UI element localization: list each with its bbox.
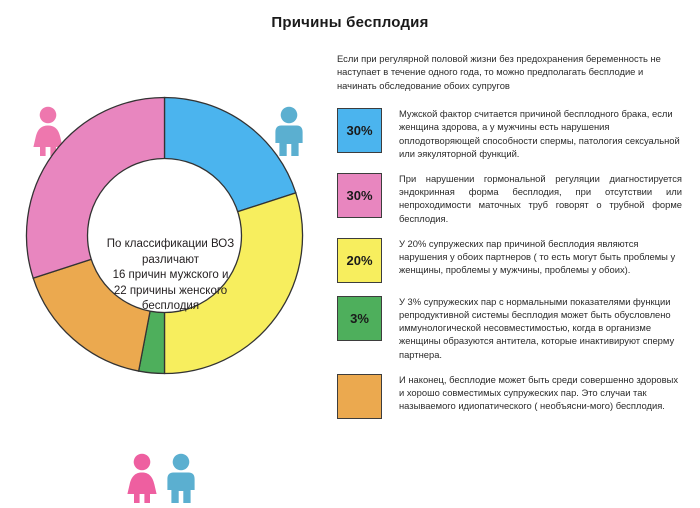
- donut-chart: [22, 93, 307, 378]
- legend-item-idiopathic: И наконец, бесплодие может быть среди со…: [337, 372, 685, 419]
- donut-center-line-4: 22 причины женского: [78, 284, 263, 300]
- donut-center-line-1: По классификации ВОЗ: [78, 237, 263, 253]
- legend-item-immunological: 3% У 3% супружеских пар с нормальными по…: [337, 294, 685, 361]
- legend-swatch-pink: 30%: [337, 173, 382, 218]
- donut-center-line-3: 16 причин мужского и: [78, 268, 263, 284]
- legend-swatch-yellow: 20%: [337, 238, 382, 283]
- legend-swatch-blue: 30%: [337, 108, 382, 153]
- couple-figure-icon: [124, 453, 204, 508]
- legend-text-idiopathic: И наконец, бесплодие может быть среди со…: [399, 372, 682, 413]
- donut-chart-panel: По классификации ВОЗ различают 16 причин…: [0, 45, 330, 485]
- legend-item-both-partners: 20% У 20% супружеских пар причиной беспл…: [337, 236, 685, 283]
- donut-center-line-5: бесплодия: [78, 299, 263, 315]
- legend-text-immunological: У 3% супружеских пар с нормальными показ…: [399, 294, 682, 361]
- legend-swatch-green: 3%: [337, 296, 382, 341]
- legend-text-male-factor: Мужской фактор считается причиной беспло…: [399, 106, 682, 160]
- male-figure-icon-small: [167, 454, 194, 503]
- donut-center-caption: По классификации ВОЗ различают 16 причин…: [78, 237, 263, 315]
- legend-swatch-orange: [337, 374, 382, 419]
- legend-item-female-factor: 30% При нарушении гормональной регуляции…: [337, 171, 685, 225]
- female-figure-icon-small: [127, 454, 156, 503]
- legend-item-male-factor: 30% Мужской фактор считается причиной бе…: [337, 106, 685, 160]
- info-panel: Если при регулярной половой жизни без пр…: [337, 52, 685, 430]
- legend-text-both-partners: У 20% супружеских пар причиной бесплодия…: [399, 236, 682, 277]
- donut-center-line-2: различают: [78, 253, 263, 269]
- intro-paragraph: Если при регулярной половой жизни без пр…: [337, 52, 677, 92]
- legend-text-female-factor: При нарушении гормональной регуляции диа…: [399, 171, 682, 225]
- page-title: Причины бесплодия: [0, 14, 700, 31]
